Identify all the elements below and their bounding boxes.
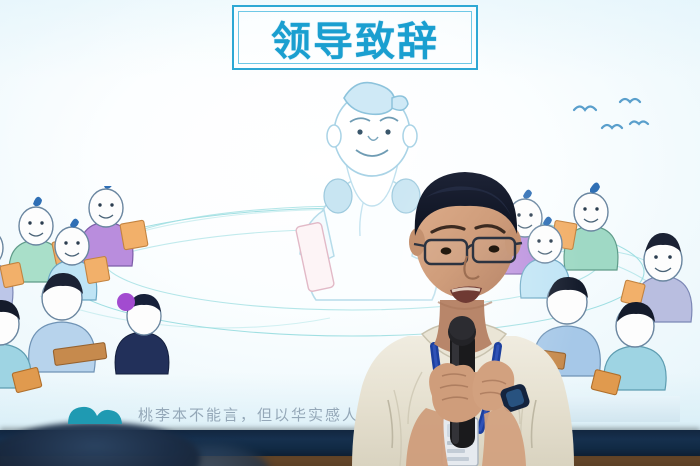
illustration-students-left [0,186,234,401]
screenshot-root: 桃李本不能言，但以华实感人。 领导致辞 [0,0,700,466]
slide-title-text: 领导致辞 [234,7,476,68]
cloud-shape-icon [66,400,132,426]
birds-icon [562,92,682,152]
speaker-person: MIC [330,150,600,466]
slide-title-box: 领导致辞 [232,5,478,70]
